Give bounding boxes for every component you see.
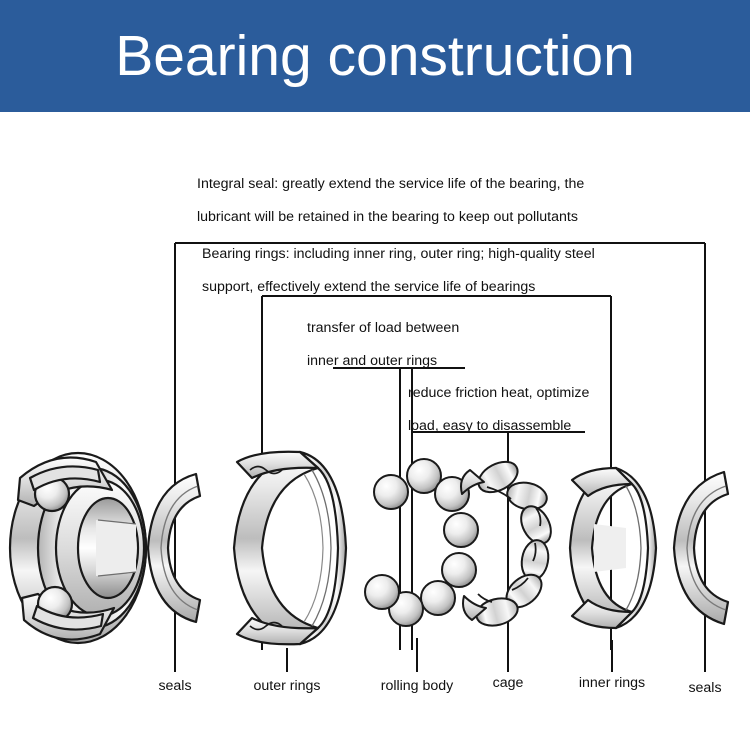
rolling-ball [444,513,478,547]
seal-ring-body [674,472,728,624]
label-inner-rings: inner rings [579,675,645,691]
outer-ring-body [234,452,318,644]
component-seal-ring-right [674,472,728,624]
cage-end-tab-upper [461,470,484,494]
rolling-ball [365,575,399,609]
rolling-ball [374,475,408,509]
label-seals-right: seals [688,680,721,696]
component-outer-ring [234,452,346,645]
label-outer-rings: outer rings [253,678,320,694]
label-seals-left: seals [158,678,191,694]
component-assembled-bearing [10,453,146,643]
label-cage: cage [493,675,524,691]
bearing-construction-diagram: Bearing construction Integral seal: grea… [0,0,750,750]
component-inner-ring [570,468,656,628]
diagram-artwork [0,0,750,750]
label-rolling-body: rolling body [381,678,454,694]
rolling-ball [421,581,455,615]
rolling-ball [442,553,476,587]
